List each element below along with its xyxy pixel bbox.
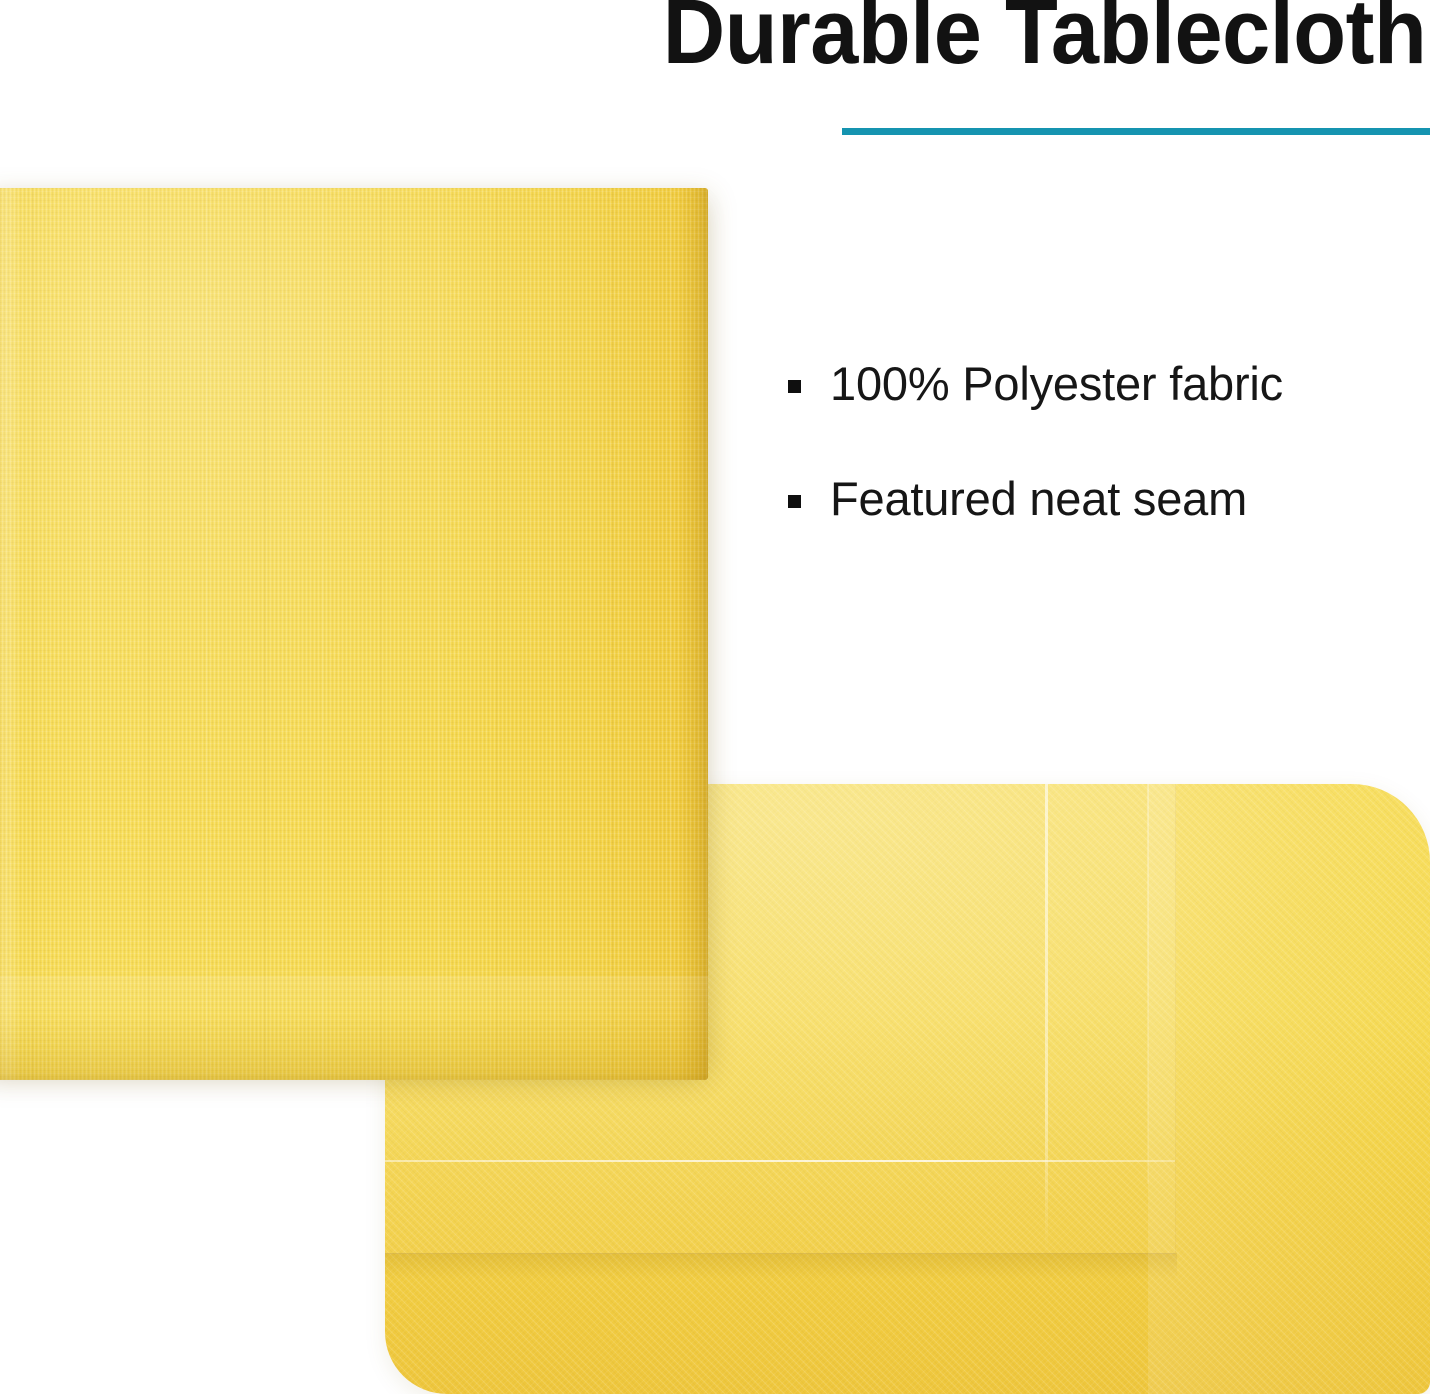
list-item: Featured neat seam (786, 467, 1426, 531)
square-bullet-icon (788, 380, 801, 393)
title-underline-rule (842, 128, 1430, 135)
header: Durable Tablecloth (640, 0, 1430, 160)
feature-label: 100% Polyester fabric (830, 357, 1283, 410)
product-feature-image: Durable Tablecloth 100% Polyester fabric… (0, 0, 1430, 1394)
list-item: 100% Polyester fabric (786, 352, 1426, 416)
folded-tablecloth-stack (0, 188, 708, 1080)
feature-list: 100% Polyester fabric Featured neat seam (786, 352, 1426, 531)
fabric-sheen (0, 188, 708, 1080)
page-title: Durable Tablecloth (662, 0, 1426, 78)
square-bullet-icon (788, 495, 801, 508)
feature-label: Featured neat seam (830, 472, 1247, 525)
